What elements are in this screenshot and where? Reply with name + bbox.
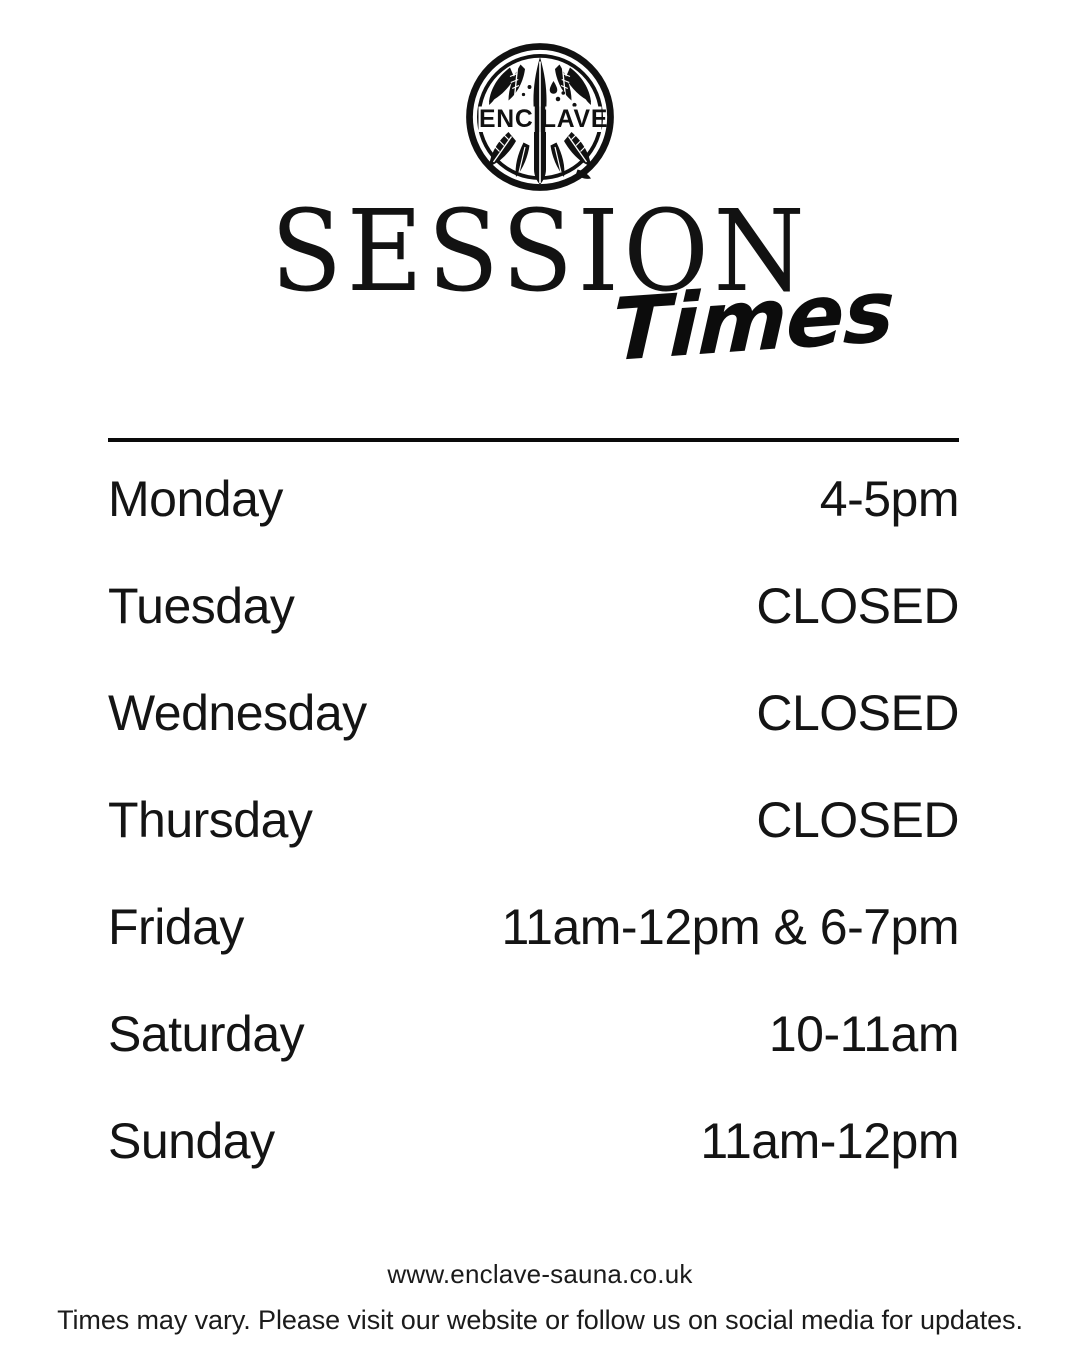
svg-text:LAVE: LAVE [541,106,608,133]
day-label: Saturday [108,1009,304,1059]
day-label: Monday [108,474,283,524]
day-label: Friday [108,902,244,952]
website-url[interactable]: www.enclave-sauna.co.uk [0,1255,1080,1294]
enclave-circular-botanical-logo: ENC LAVE [465,42,615,192]
table-row: Friday 11am-12pm & 6-7pm [108,902,959,1009]
header-divider [108,438,959,442]
table-row: Saturday 10-11am [108,1009,959,1116]
time-value: 11am-12pm [700,1116,959,1166]
time-value: CLOSED [756,688,959,738]
table-row: Wednesday CLOSED [108,688,959,795]
disclaimer-text: Times may vary. Please visit our website… [0,1300,1080,1342]
day-label: Wednesday [108,688,367,738]
session-times-poster: ENC LAVE SESSION Times Monday 4-5pm Tues… [0,0,1080,1350]
schedule-list: Monday 4-5pm Tuesday CLOSED Wednesday CL… [108,474,959,1223]
svg-text:ENC: ENC [479,106,534,133]
day-label: Thursday [108,795,312,845]
time-value: CLOSED [756,581,959,631]
table-row: Tuesday CLOSED [108,581,959,688]
time-value: 4-5pm [820,474,959,524]
table-row: Thursday CLOSED [108,795,959,902]
footer: www.enclave-sauna.co.uk Times may vary. … [0,1255,1080,1342]
brand-logo: ENC LAVE [0,42,1080,192]
day-label: Tuesday [108,581,294,631]
time-value: CLOSED [756,795,959,845]
table-row: Sunday 11am-12pm [108,1116,959,1223]
time-value: 10-11am [769,1009,959,1059]
page-title: SESSION Times [0,196,1080,396]
title-times-script: Times [610,268,895,374]
table-row: Monday 4-5pm [108,474,959,581]
day-label: Sunday [108,1116,275,1166]
time-value: 11am-12pm & 6-7pm [502,902,959,952]
